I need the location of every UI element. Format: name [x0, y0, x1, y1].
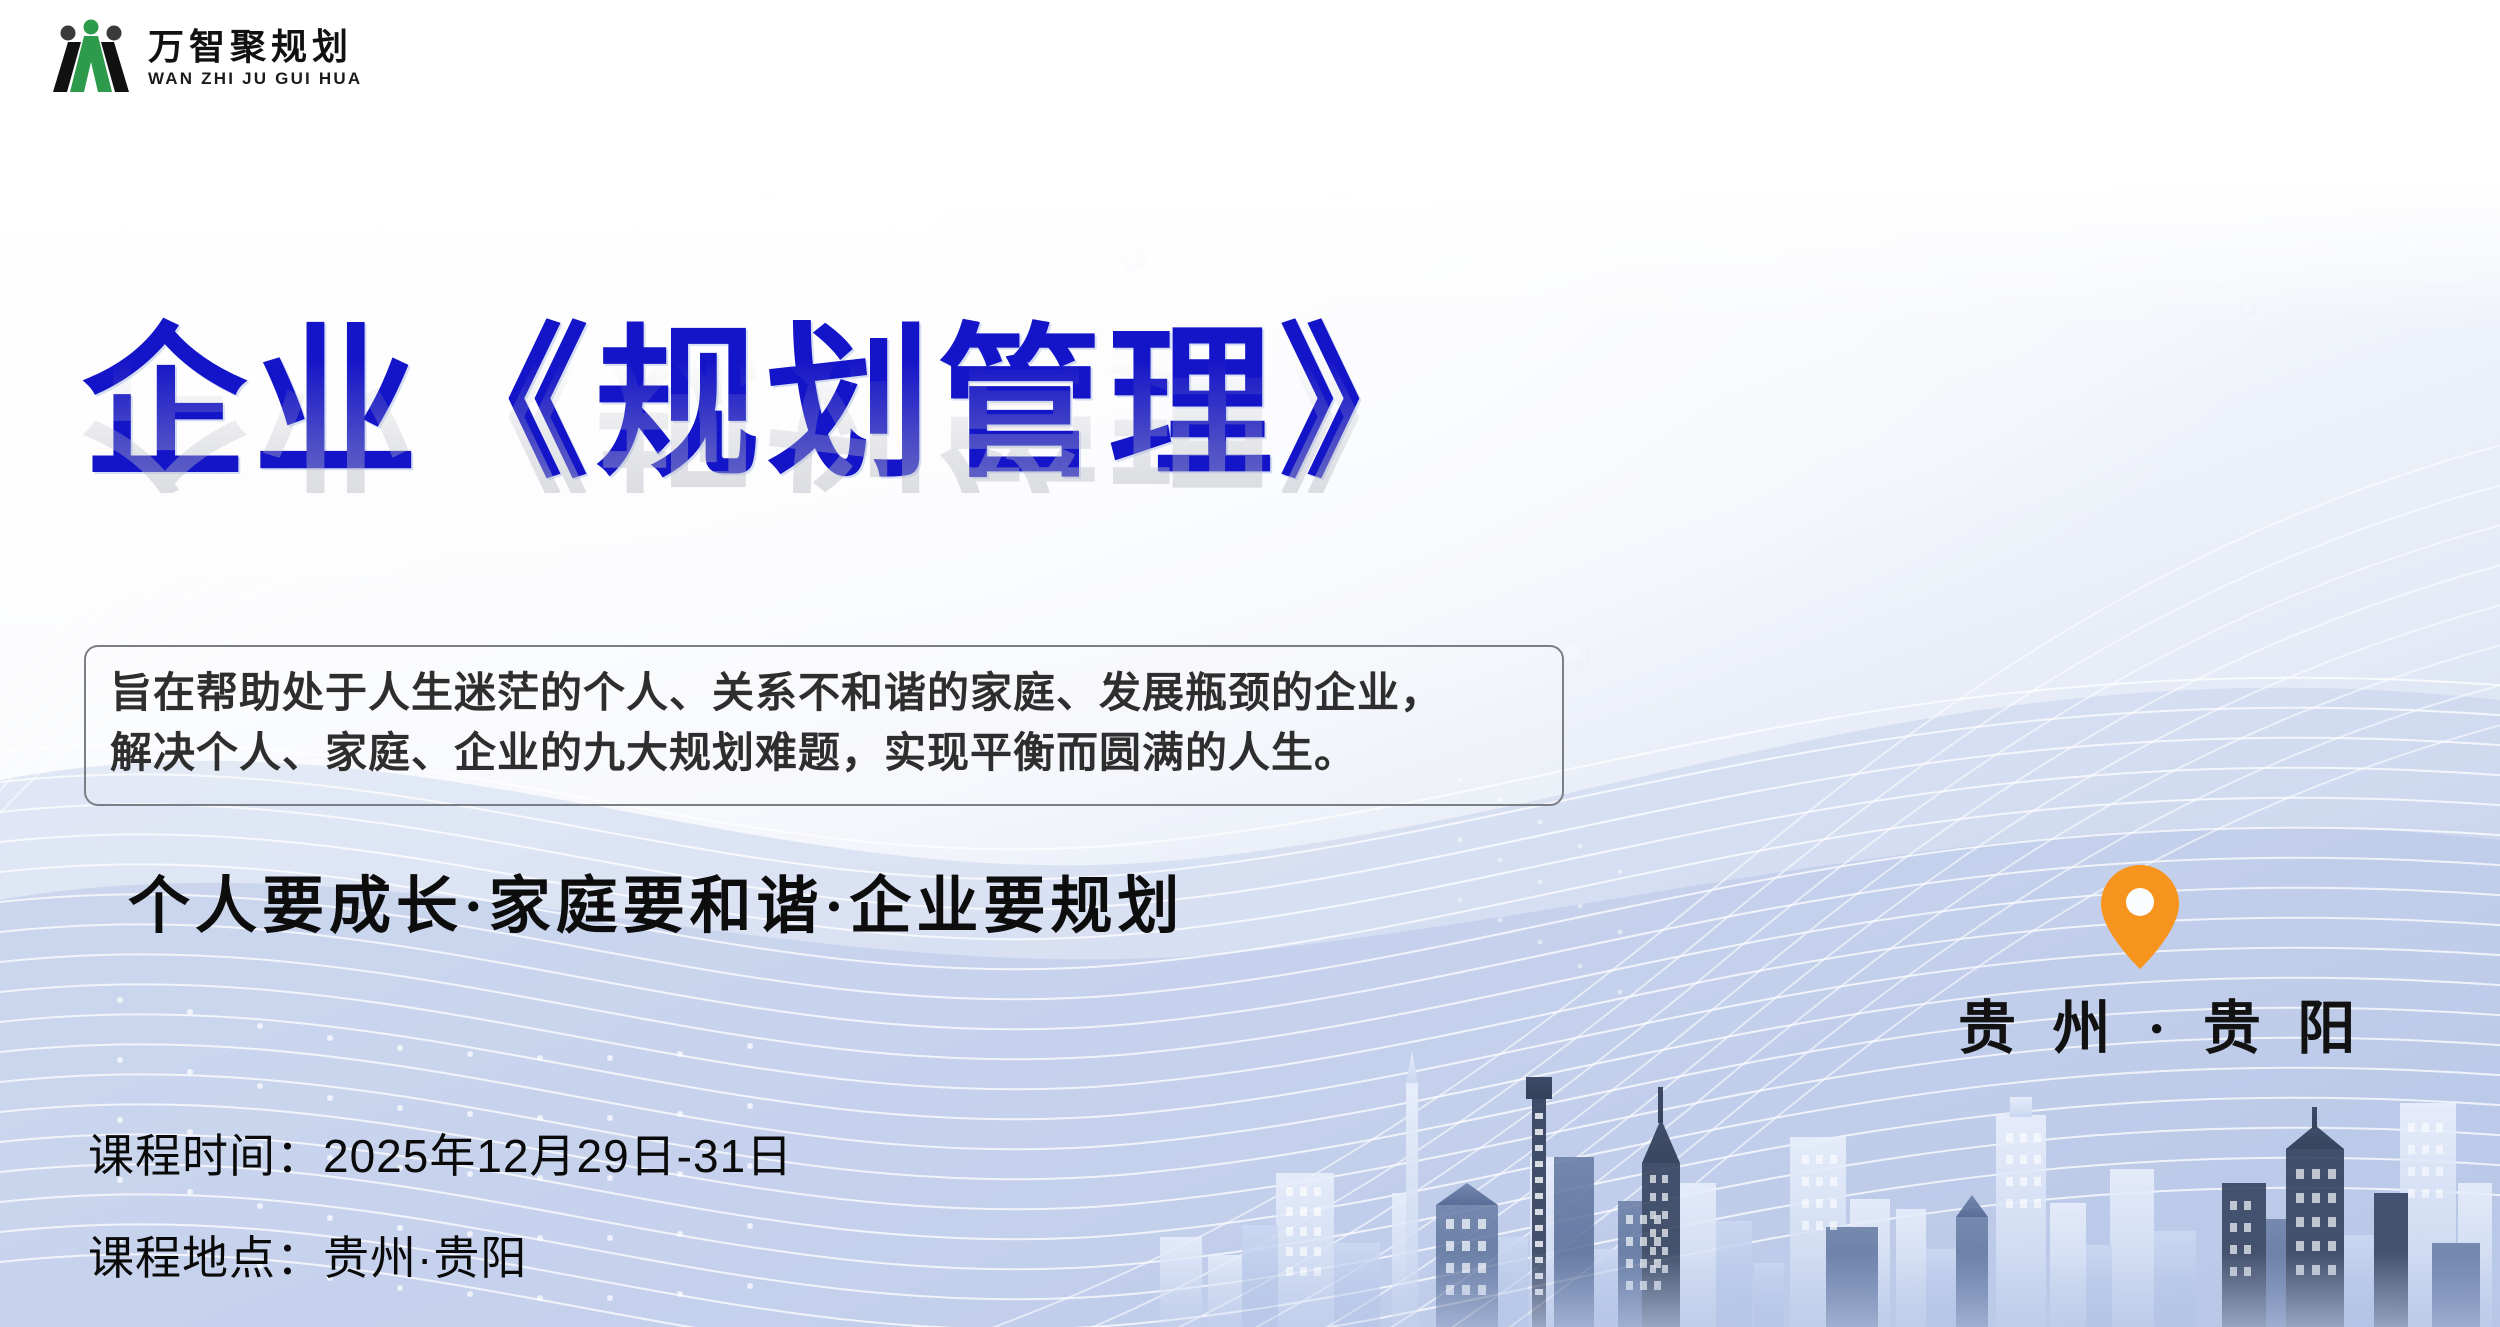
- brand-logo[interactable]: 万智聚规划 WAN ZHI JU GUI HUA: [48, 18, 362, 96]
- description-line-2: 解决个人、家庭、企业的九大规划难题，实现平衡而圆满的人生。: [110, 725, 1538, 785]
- hero-title-block: 企业《规划管理》 企业《规划管理》: [82, 322, 1642, 658]
- description-line-1: 旨在帮助处于人生迷茫的个人、关系不和谐的家庭、发展瓶颈的企业，: [110, 665, 1538, 725]
- description-box: 旨在帮助处于人生迷茫的个人、关系不和谐的家庭、发展瓶颈的企业， 解决个人、家庭、…: [84, 645, 1564, 806]
- brand-name-cn: 万智聚规划: [148, 29, 362, 67]
- course-time: 课程时间：2025年12月29日-31日: [88, 1120, 793, 1186]
- poster-canvas: 万智聚规划 WAN ZHI JU GUI HUA 企业《规划管理》 企业《规划管…: [0, 0, 2500, 1327]
- top-white-fade: [0, 0, 2500, 330]
- brand-logo-text: 万智聚规划 WAN ZHI JU GUI HUA: [148, 29, 362, 88]
- three-people-logo-icon: [48, 18, 134, 96]
- location-block: 贵 州 · 贵 阳: [1950, 862, 2330, 1065]
- location-city: 贵 州 · 贵 阳: [1950, 981, 2330, 1065]
- course-place: 课程地点：贵州·贵阳: [88, 1222, 793, 1288]
- tagline: 个人要成长·家庭要和谐·企业要规划: [128, 855, 1184, 945]
- page-title-reflection: 企业《规划管理》: [82, 328, 1642, 493]
- map-pin-icon: [2097, 862, 2183, 972]
- brand-name-en: WAN ZHI JU GUI HUA: [148, 70, 362, 87]
- course-info: 课程时间：2025年12月29日-31日 课程地点：贵州·贵阳: [88, 1120, 793, 1324]
